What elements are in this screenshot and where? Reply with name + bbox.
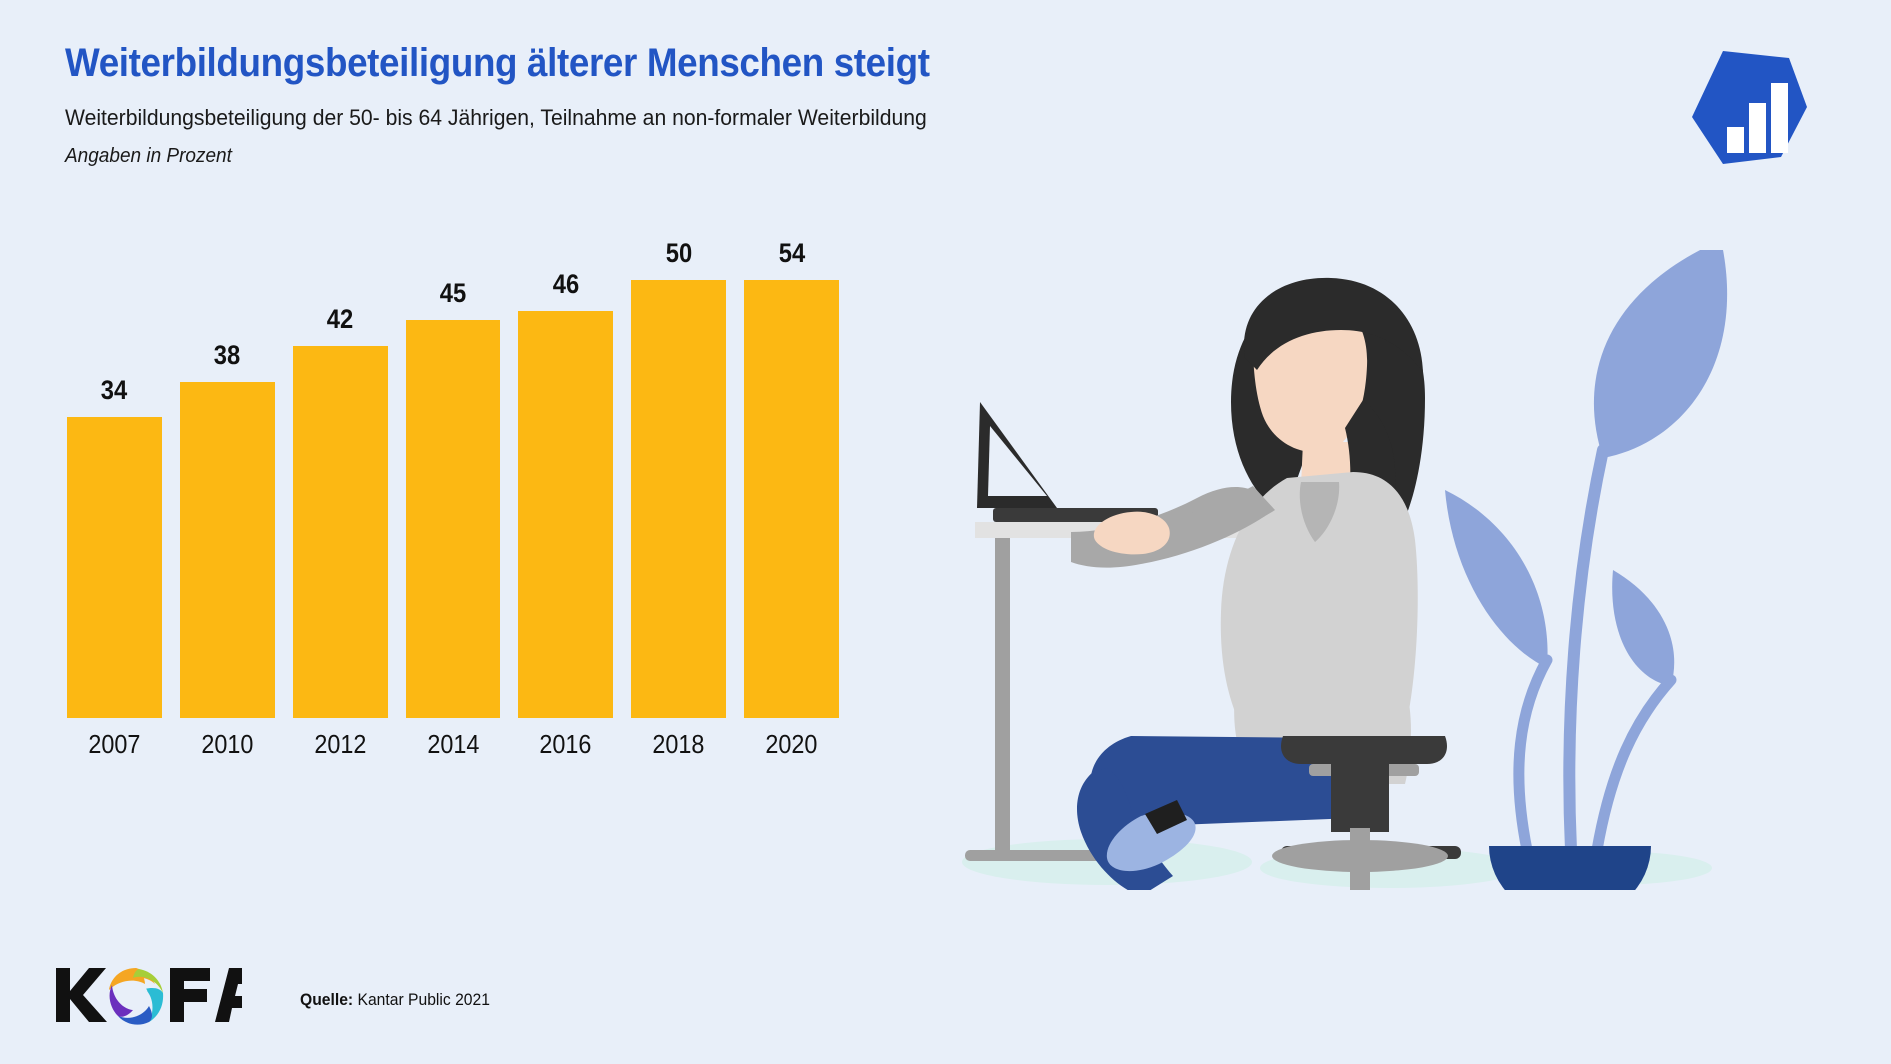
woman-working-at-laptop-illustration: [935, 250, 1795, 890]
laptop: [977, 402, 1158, 522]
stool-seat: [1281, 736, 1447, 764]
bar-rect[interactable]: [406, 320, 501, 718]
plant-pot: [1489, 846, 1651, 890]
x-axis: 2007 2010 2012 2014 2016 2018 2020: [58, 718, 848, 770]
stool-base: [1272, 840, 1448, 872]
x-axis-label: 2010: [185, 718, 270, 770]
bar-value-label: 50: [666, 240, 692, 267]
chart-subtitle: Weiterbildungsbeteiligung der 50- bis 64…: [65, 105, 1287, 131]
bar-value-label: 42: [327, 306, 353, 333]
leaf: [1612, 570, 1674, 686]
bar-column: 34: [67, 240, 162, 718]
kofa-letter-k: [56, 968, 107, 1022]
bar-column: 42: [293, 240, 388, 718]
source-label: Quelle:: [300, 991, 353, 1009]
kofa-letter-a: [215, 968, 242, 1022]
bar-column: 38: [180, 240, 275, 718]
x-axis-label: 2012: [297, 718, 382, 770]
kofa-iris-icon: [109, 968, 163, 1025]
bar-column: 50: [631, 240, 726, 718]
bar-rect[interactable]: [180, 382, 275, 719]
x-axis-label: 2007: [72, 718, 157, 770]
bar-value-label: 45: [440, 280, 466, 307]
bar-column: 45: [406, 240, 501, 718]
bar-chart-badge-icon: [1685, 45, 1813, 170]
bar-value-label: 34: [101, 377, 127, 404]
source-note: Quelle: Kantar Public 2021: [300, 991, 490, 1010]
chart-plot-area: 34 38 42 45 46 50 54: [58, 240, 848, 718]
header: Weiterbildungsbeteiligung älterer Mensch…: [65, 40, 1365, 168]
page-title: Weiterbildungsbeteiligung älterer Mensch…: [65, 40, 1261, 86]
x-axis-label: 2020: [749, 718, 834, 770]
bar-rect[interactable]: [744, 280, 839, 718]
kofa-logo: [52, 964, 242, 1026]
chart-units-note: Angaben in Prozent: [65, 145, 1300, 168]
desk-leg: [995, 538, 1010, 856]
bar-column: 46: [518, 240, 613, 718]
bar-value-label: 46: [553, 271, 579, 298]
laptop-screen-inner: [988, 426, 1047, 496]
bar-rect[interactable]: [518, 311, 613, 718]
leaf: [1445, 490, 1548, 668]
stool-cylinder: [1331, 764, 1389, 832]
bar-rect[interactable]: [631, 280, 726, 718]
bar-rect[interactable]: [293, 346, 388, 718]
leaf: [1594, 250, 1727, 458]
x-axis-label: 2018: [636, 718, 721, 770]
x-axis-label: 2014: [410, 718, 495, 770]
bar-value-label: 38: [214, 342, 240, 369]
bar-column: 54: [744, 240, 839, 718]
bar-rect[interactable]: [67, 417, 162, 718]
potted-plant: [1445, 250, 1727, 890]
x-axis-label: 2016: [523, 718, 608, 770]
kofa-letter-f: [170, 968, 210, 1022]
bar-value-label: 54: [778, 240, 804, 267]
bar-chart: 34 38 42 45 46 50 54 2007 2010 2: [58, 240, 848, 770]
source-value: Kantar Public 2021: [358, 991, 490, 1009]
